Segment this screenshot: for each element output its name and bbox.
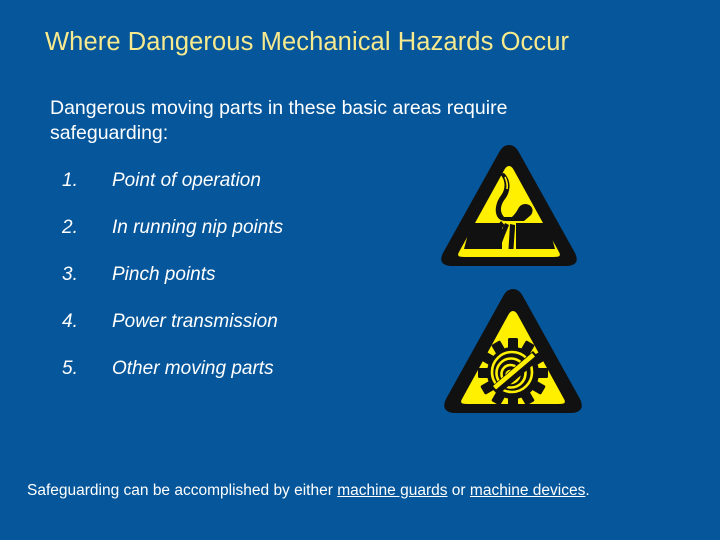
list-item-label: Point of operation (112, 170, 261, 192)
list-item-number: 1. (62, 170, 96, 192)
slide: Where Dangerous Mechanical Hazards Occur… (0, 0, 720, 540)
list-item-number: 2. (62, 217, 96, 239)
footer-middle-text: or (448, 482, 470, 499)
machine-guards-link[interactable]: machine guards (337, 482, 447, 499)
rotating-gear-hazard-sign-icon (441, 285, 585, 416)
intro-paragraph: Dangerous moving parts in these basic ar… (50, 96, 630, 146)
crush-hazard-sign-icon (438, 141, 580, 269)
list-item: 4. Power transmission (62, 311, 442, 358)
hazard-list: 1. Point of operation 2. In running nip … (62, 170, 442, 405)
list-item: 1. Point of operation (62, 170, 442, 217)
list-item-label: Other moving parts (112, 358, 274, 380)
footer-lead-text: Safeguarding can be accomplished by eith… (27, 482, 337, 499)
page-title: Where Dangerous Mechanical Hazards Occur (45, 27, 685, 57)
list-item-number: 4. (62, 311, 96, 333)
machine-devices-link[interactable]: machine devices (470, 482, 585, 499)
list-item-number: 3. (62, 264, 96, 286)
list-item-number: 5. (62, 358, 96, 380)
list-item: 3. Pinch points (62, 264, 442, 311)
footer-note: Safeguarding can be accomplished by eith… (27, 481, 697, 501)
list-item-label: Pinch points (112, 264, 216, 286)
list-item: 5. Other moving parts (62, 358, 442, 405)
footer-end-text: . (585, 482, 589, 499)
list-item-label: Power transmission (112, 311, 278, 333)
list-item-label: In running nip points (112, 217, 283, 239)
list-item: 2. In running nip points (62, 217, 442, 264)
